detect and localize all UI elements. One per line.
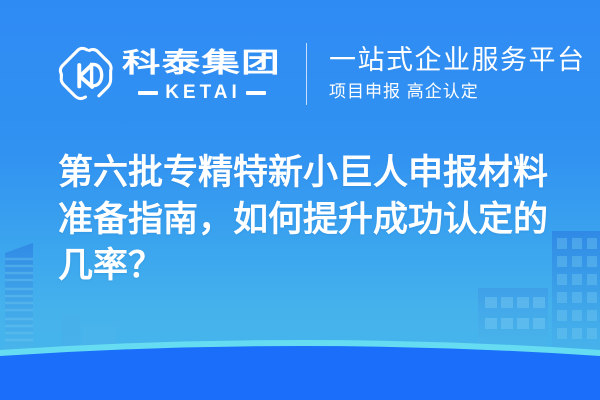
tagline-main: 一站式企业服务平台 xyxy=(329,45,586,75)
right-wide-block xyxy=(478,288,548,354)
right-tall-tower xyxy=(552,231,600,353)
logo-chinese-name: 科泰集团 xyxy=(122,46,282,80)
logo-wordmark: 科泰集团 KETAI xyxy=(122,45,282,103)
tagline-block: 一站式企业服务平台 项目申报 高企认定 xyxy=(329,41,586,107)
logo-english-row: KETAI xyxy=(122,83,282,102)
left-small-block xyxy=(62,316,116,354)
ketai-kt-monogram-icon xyxy=(58,46,114,102)
tagline-sub: 项目申报 高企认定 xyxy=(329,81,586,103)
page-title: 第六批专精特新小巨人申报材料准备指南，如何提升成功认定的几率？ xyxy=(58,150,558,290)
banner-header: 科泰集团 KETAI 一站式企业服务平台 项目申报 高企认定 xyxy=(58,38,586,110)
dash-left-icon xyxy=(138,91,158,95)
dash-right-icon xyxy=(246,91,266,95)
promo-banner: 科泰集团 KETAI 一站式企业服务平台 项目申报 高企认定 第六批专精特新小巨… xyxy=(0,0,600,400)
bottom-arc-icon xyxy=(0,320,600,400)
vertical-divider-icon xyxy=(306,43,307,105)
svg-text:科泰集团: 科泰集团 xyxy=(122,47,281,79)
logo-english-name: KETAI xyxy=(165,83,241,102)
left-tall-tower xyxy=(3,243,35,352)
